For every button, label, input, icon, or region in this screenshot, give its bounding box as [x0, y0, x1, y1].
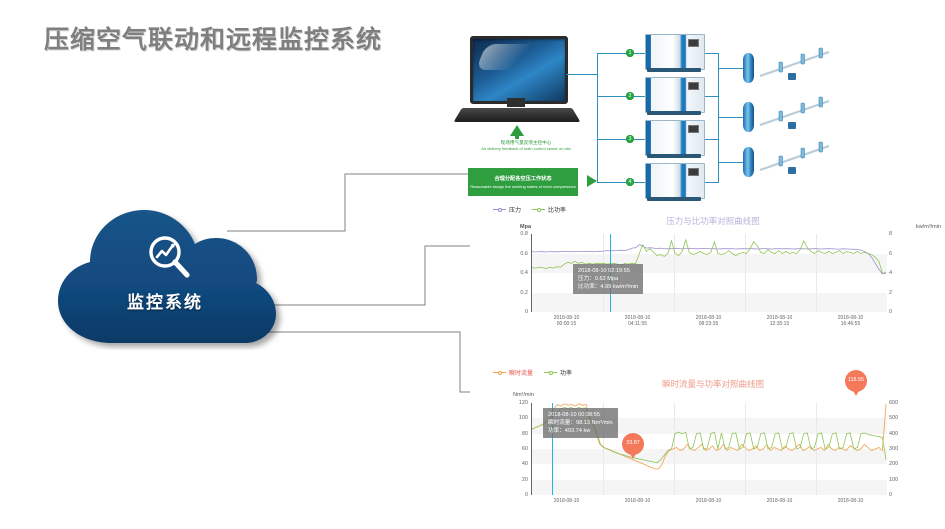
monitor-screen	[470, 36, 568, 104]
pin-label: 118.55	[845, 370, 867, 392]
chart2-tooltip: 2018-08-10 00:38:55 瞬时流量：98.13 Nm³/min 功…	[543, 408, 618, 438]
compressor-panel-icon	[688, 82, 699, 90]
axis-tick-time: 08:23:35	[696, 321, 722, 327]
axis-tick-label: 100	[889, 477, 945, 483]
wire-tank-1	[718, 68, 743, 69]
tree-stem-icon	[515, 134, 519, 139]
legend-item-pressure[interactable]: 压力	[493, 205, 521, 214]
wire-branch-4	[597, 182, 629, 183]
legend-symbol-line-icon	[532, 206, 545, 213]
legend-label: 比功率	[548, 205, 566, 214]
axis-tick-label: 60	[522, 446, 528, 452]
axis-tick-date: 2018-08-10	[696, 498, 722, 504]
wire-branch-1	[597, 53, 629, 54]
green-arrow-icon	[587, 175, 597, 187]
chart1-ylabel-right: kw/m³/min	[916, 224, 941, 230]
monitor-caption-en: Air delivery feedback of main control ce…	[466, 146, 586, 151]
chart1-ylabel-left: Mpa	[520, 224, 531, 230]
legend-symbol-line-icon	[544, 369, 557, 376]
chart1-legend: 压力 比功率	[493, 205, 566, 214]
axis-tick-time: 00:00:15	[554, 321, 580, 327]
axis-tick-label: 4	[889, 270, 945, 276]
wire-out-3	[703, 139, 719, 140]
axis-tick-label: 2018-08-10	[696, 498, 722, 504]
air-tank-2	[743, 102, 754, 132]
wire-node1-comp	[634, 53, 645, 54]
axis-tick-label: 6	[889, 251, 945, 257]
axis-tick-label: 2018-08-1012:35:15	[767, 315, 793, 327]
node-1[interactable]: 1	[626, 49, 634, 57]
wire-branch-2	[597, 96, 629, 97]
axis-tick-label: 0	[889, 492, 945, 498]
axis-tick-label: 2018-08-1008:23:35	[696, 315, 722, 327]
chart1-title: 压力与比功率对照曲线图	[481, 215, 945, 227]
green-callout-box: 合理分配各空压工作状态 Reasonable assign the workin…	[468, 168, 578, 196]
wire-node2-comp	[634, 96, 645, 97]
axis-tick-time: 04:11:55	[625, 321, 651, 327]
axis-tick-label: 8	[889, 231, 945, 237]
axis-tick-label: 0.8	[520, 231, 528, 237]
node-4[interactable]: 4	[626, 178, 634, 186]
chart1-tooltip: 2018-08-10 02:19:55 压力：0.63 Mpa 比功率：4.99…	[573, 264, 643, 294]
legend-item-power[interactable]: 功率	[544, 368, 572, 377]
axis-tick-time: 12:35:15	[767, 321, 793, 327]
pressure-vs-specific-power-chart[interactable]: 压力 比功率 压力与比功率对照曲线图 Mpa kw/m³/min 0.80.60…	[481, 202, 945, 337]
compressor-panel-icon	[688, 168, 699, 176]
axis-tick-date: 2018-08-10	[767, 498, 793, 504]
axis-tick-date: 2018-08-10	[554, 498, 580, 504]
legend-symbol-line-icon	[493, 206, 506, 213]
compressor-3	[645, 120, 703, 158]
wire-left-bus	[597, 53, 598, 183]
axis-tick-label: 300	[889, 446, 945, 452]
node-3[interactable]: 3	[626, 135, 634, 143]
axis-tick-label: 2018-08-1004:11:55	[625, 315, 651, 327]
monitoring-cloud[interactable]: 监控系统	[40, 200, 290, 350]
axis-tick-label: 120	[519, 400, 528, 406]
wire-tank-2	[718, 117, 743, 118]
tooltip-line-2: 功率：493.74 kw	[548, 427, 613, 435]
axis-tick-label: 2018-08-10	[625, 498, 651, 504]
axis-tick-label: 80	[522, 431, 528, 437]
axis-tick-label: 400	[889, 431, 945, 437]
axis-tick-label: 0	[525, 492, 528, 498]
axis-tick-date: 2018-08-10	[838, 498, 864, 504]
wire-out-1	[703, 53, 719, 54]
axis-tick-time: 16:46:55	[838, 321, 864, 327]
tooltip-line-1: 瞬时流量：98.13 Nm³/min	[548, 419, 613, 427]
wire-node3-comp	[634, 139, 645, 140]
legend-item-flow[interactable]: 瞬时流量	[493, 368, 533, 377]
chart2-title: 瞬时流量与功率对照曲线图	[481, 378, 945, 390]
wire-node4-comp	[634, 182, 645, 183]
legend-item-specific-power[interactable]: 比功率	[532, 205, 566, 214]
axis-tick-label: 0	[525, 309, 528, 315]
axis-tick-label: 500	[889, 415, 945, 421]
wire-branch-3	[597, 139, 629, 140]
chart2-legend: 瞬时流量 功率	[493, 368, 572, 377]
axis-tick-label: 100	[519, 415, 528, 421]
axis-tick-label: 2018-08-1000:00:15	[554, 315, 580, 327]
legend-label: 功率	[560, 368, 572, 377]
wire-out-2	[703, 96, 719, 97]
compressor-panel-icon	[688, 39, 699, 47]
axis-tick-label: 0.2	[520, 290, 528, 296]
green-box-text-en: Reasonable assign the working states of …	[468, 182, 578, 189]
axis-tick-date: 2018-08-10	[625, 498, 651, 504]
axis-tick-label: 2018-08-10	[767, 498, 793, 504]
pin-label: 33.87	[622, 433, 644, 455]
axis-tick-label: 0.4	[520, 270, 528, 276]
compressor-1	[645, 34, 703, 72]
wire-tank-3	[718, 162, 743, 163]
keyboard	[454, 108, 581, 122]
connector-to-chart1	[270, 246, 470, 305]
compressed-air-topology-diagram: 现场用气量反馈主控中心 Air delivery feedback of mai…	[430, 22, 945, 207]
axis-tick-label: 200	[889, 461, 945, 467]
legend-label: 瞬时流量	[509, 368, 533, 377]
distribution-pipes	[757, 40, 867, 200]
air-tank-3	[743, 147, 754, 177]
node-2[interactable]: 2	[626, 92, 634, 100]
monitor-stand	[507, 98, 525, 107]
axis-tick-label: 2	[889, 290, 945, 296]
wire-right-bus	[718, 53, 719, 183]
wire-out-4	[703, 182, 719, 183]
cloud-shape	[40, 200, 290, 350]
tooltip-line-1: 压力：0.63 Mpa	[578, 275, 638, 283]
axis-tick-label: 2018-08-10	[554, 498, 580, 504]
flow-vs-power-chart[interactable]: 瞬时流量 功率 瞬时流量与功率对照曲线图 Nm³/min 12010080604…	[481, 365, 945, 529]
green-box-text-zh: 合理分配各空压工作状态	[468, 168, 578, 182]
tooltip-line-2: 比功率：4.99 kw/m³/min	[578, 283, 638, 291]
axis-tick-label: 40	[522, 461, 528, 467]
axis-tick-label: 0	[889, 309, 945, 315]
axis-tick-label: 20	[522, 477, 528, 483]
slide-canvas: 压缩空气联动和远程监控系统	[0, 0, 945, 529]
wire-monitor-bus	[566, 74, 598, 75]
compressor-2	[645, 77, 703, 115]
air-tank-1	[743, 53, 754, 83]
tooltip-timestamp: 2018-08-10 02:19:55	[578, 267, 638, 275]
chart2-ylabel-left: Nm³/min	[513, 392, 534, 398]
axis-tick-label: 2018-08-10	[838, 498, 864, 504]
compressor-panel-icon	[688, 125, 699, 133]
legend-symbol-line-icon	[493, 369, 506, 376]
axis-tick-label: 600	[889, 400, 945, 406]
axis-tick-label: 0.6	[520, 251, 528, 257]
axis-tick-label: 2018-08-1016:46:55	[838, 315, 864, 327]
legend-label: 压力	[509, 205, 521, 214]
screen-glare	[476, 44, 547, 70]
tooltip-timestamp: 2018-08-10 00:38:55	[548, 411, 613, 419]
compressor-4	[645, 163, 703, 201]
